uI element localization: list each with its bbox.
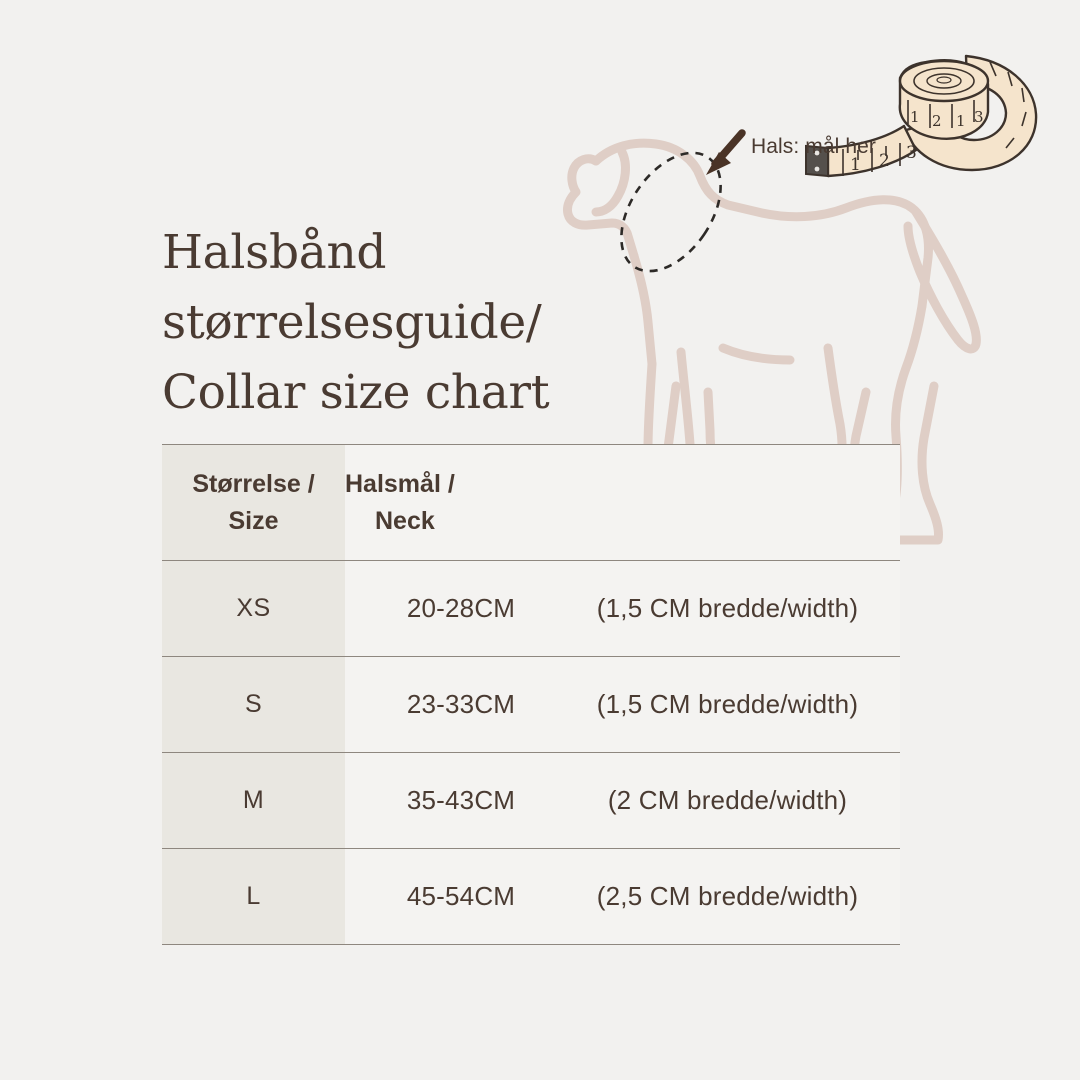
row-size-value: M [162, 753, 345, 849]
table-header-row: Størrelse / Size Halsmål / Neck [162, 445, 900, 561]
size-label: S [245, 690, 262, 718]
column-header-neck-line-2: Neck [345, 503, 900, 540]
neck-measure-annotation-label: Hals: mål her [751, 135, 876, 159]
row-neck-cell: 23-33CM (1,5 CM bredde/width) [345, 657, 900, 753]
page-title-line-1: Halsbånd [162, 218, 632, 288]
page-title-line-2: størrelsesguide/ [162, 288, 632, 358]
neck-range-value: 35-43CM [367, 785, 555, 816]
column-header-size-line-2: Size [228, 507, 278, 535]
svg-text:3: 3 [974, 108, 984, 126]
row-size-value: L [162, 849, 345, 945]
neck-range-value: 23-33CM [367, 689, 555, 720]
collar-width-value: (2 CM bredde/width) [555, 785, 900, 816]
row-neck-cell: 20-28CM (1,5 CM bredde/width) [345, 561, 900, 657]
row-size-value: XS [162, 561, 345, 657]
svg-text:3: 3 [906, 143, 917, 163]
table-row: XS 20-28CM (1,5 CM bredde/width) [162, 561, 900, 657]
row-neck-cell: 45-54CM (2,5 CM bredde/width) [345, 849, 900, 945]
table-row: S 23-33CM (1,5 CM bredde/width) [162, 657, 900, 753]
column-header-size-line-1: Størrelse / [192, 470, 314, 498]
arrow-down-left-icon [706, 133, 742, 175]
svg-text:1: 1 [910, 108, 920, 126]
collar-size-chart-page: 1 2 3 1 2 1 3 Hals: mål h [0, 0, 1080, 1080]
size-label: M [243, 786, 264, 814]
svg-text:1: 1 [956, 112, 966, 130]
row-size-value: S [162, 657, 345, 753]
collar-width-value: (1,5 CM bredde/width) [555, 593, 900, 624]
collar-width-value: (2,5 CM bredde/width) [555, 881, 900, 912]
svg-text:2: 2 [879, 151, 890, 171]
collar-width-value: (1,5 CM bredde/width) [555, 689, 900, 720]
table-row: M 35-43CM (2 CM bredde/width) [162, 753, 900, 849]
svg-text:2: 2 [932, 112, 942, 130]
row-neck-cell: 35-43CM (2 CM bredde/width) [345, 753, 900, 849]
table-row: L 45-54CM (2,5 CM bredde/width) [162, 849, 900, 945]
neck-range-value: 20-28CM [367, 593, 555, 624]
page-title-line-3: Collar size chart [162, 358, 632, 428]
column-header-neck: Halsmål / Neck [345, 445, 900, 561]
page-title: Halsbånd størrelsesguide/ Collar size ch… [162, 218, 632, 428]
column-header-size: Størrelse / Size [162, 445, 345, 561]
column-header-neck-line-1: Halsmål / [345, 470, 455, 498]
size-label: XS [236, 594, 270, 622]
neck-range-value: 45-54CM [367, 881, 555, 912]
collar-size-table: Størrelse / Size Halsmål / Neck XS [162, 444, 900, 945]
size-label: L [246, 882, 260, 910]
